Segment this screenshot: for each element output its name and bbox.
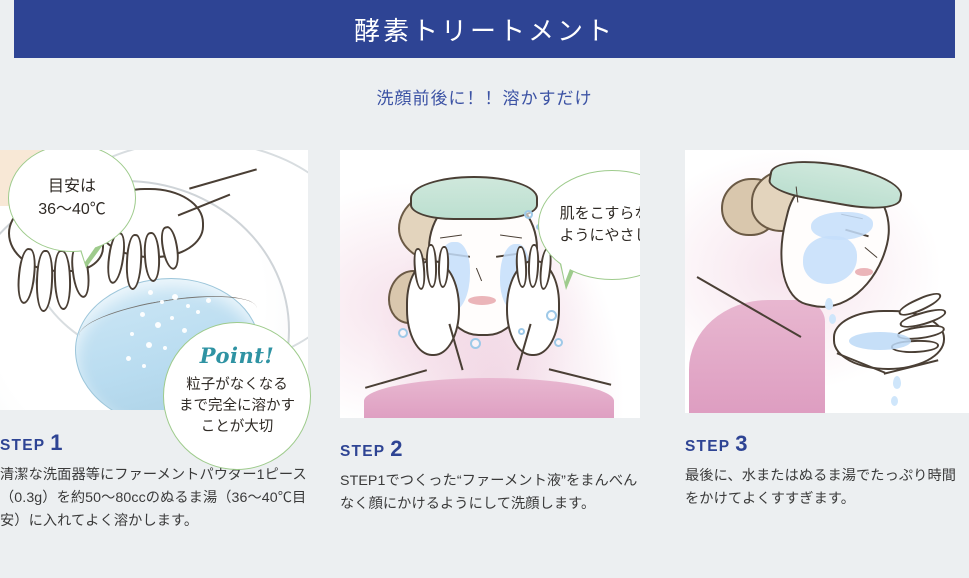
granule <box>148 290 153 295</box>
step-card-3: STEP 3 最後に、水またはぬるま湯でたっぷり時間をかけてよくすすぎます。 <box>685 150 969 511</box>
step-3-body: 最後に、水またはぬるま湯でたっぷり時間をかけてよくすすぎます。 <box>685 465 969 511</box>
dress-shape <box>364 378 614 418</box>
granule <box>196 310 200 314</box>
point-heading: Point! <box>164 341 310 371</box>
granule <box>170 316 174 320</box>
step-label: STEP <box>685 438 730 456</box>
step-label: STEP <box>340 443 385 461</box>
water-droplet <box>829 314 836 324</box>
page-header: 酵素トリートメント <box>14 0 955 58</box>
callout-line: 目安は <box>38 175 106 198</box>
water-bubble <box>518 328 525 335</box>
callout-line: 36〜40℃ <box>38 198 106 221</box>
step-card-1: 目安は 36〜40℃ Point! 粒子がなくなる まで完全に溶かす ことが大切… <box>0 150 308 533</box>
lips <box>468 296 496 305</box>
page-subtitle: 洗顔前後に！！溶かすだけ <box>0 84 969 109</box>
step-number: 2 <box>390 438 402 460</box>
step-2-body: STEP1でつくった“ファーメント液”をまんべんなく顔にかけるようにして洗顔しま… <box>340 470 640 516</box>
granule <box>186 304 190 308</box>
step-3-heading: STEP 3 <box>685 433 969 456</box>
step-number: 3 <box>735 433 747 455</box>
callout-text: 目安は 36〜40℃ <box>38 175 106 221</box>
callout-tail-inner <box>77 236 103 262</box>
granule <box>140 312 145 317</box>
step-number: 1 <box>50 432 62 454</box>
headband <box>410 176 538 220</box>
callout-tail-inner <box>559 253 576 282</box>
step-1-body: 清潔な洗面器等にファーメントパウダー1ピース（0.3g）を約50〜80ccのぬる… <box>0 464 308 533</box>
callout-line: まで完全に溶かす <box>164 396 310 417</box>
water-bubble <box>398 328 408 338</box>
step-label: STEP <box>0 437 45 455</box>
granule <box>160 300 164 304</box>
callout-line: ことが大切 <box>164 417 310 438</box>
water-droplet <box>825 298 833 310</box>
callout-point-note: Point! 粒子がなくなる まで完全に溶かす ことが大切 <box>163 322 311 470</box>
water-in-hands <box>849 332 911 350</box>
granule <box>126 356 131 361</box>
water-bubble <box>524 210 533 219</box>
callout-text: 肌をこすらない ようにやさしく <box>559 203 640 247</box>
granule <box>206 298 211 303</box>
granule <box>155 322 161 328</box>
page-title: 酵素トリートメント <box>354 11 615 48</box>
step-2-heading: STEP 2 <box>340 438 640 461</box>
step-2-illustration: 肌をこすらない ようにやさしく <box>340 150 640 418</box>
lips <box>855 268 873 276</box>
granule <box>130 332 134 336</box>
callout-line: ようにやさしく <box>559 225 640 247</box>
callout-line: 粒子がなくなる <box>164 375 310 396</box>
granule <box>146 342 152 348</box>
granule <box>172 294 178 300</box>
steps-container: 目安は 36〜40℃ Point! 粒子がなくなる まで完全に溶かす ことが大切… <box>0 150 969 578</box>
granule <box>182 328 187 333</box>
step-3-illustration <box>685 150 969 413</box>
water-bubble <box>470 338 481 349</box>
granule <box>142 364 146 368</box>
water-bubble <box>554 338 563 347</box>
water-droplet <box>893 376 901 389</box>
callout-line: 肌をこすらない <box>559 203 640 225</box>
water-droplet <box>891 396 898 406</box>
step-card-2: 肌をこすらない ようにやさしく STEP 2 STEP1でつくった“ファーメント… <box>340 150 640 516</box>
water-bubble <box>546 310 557 321</box>
